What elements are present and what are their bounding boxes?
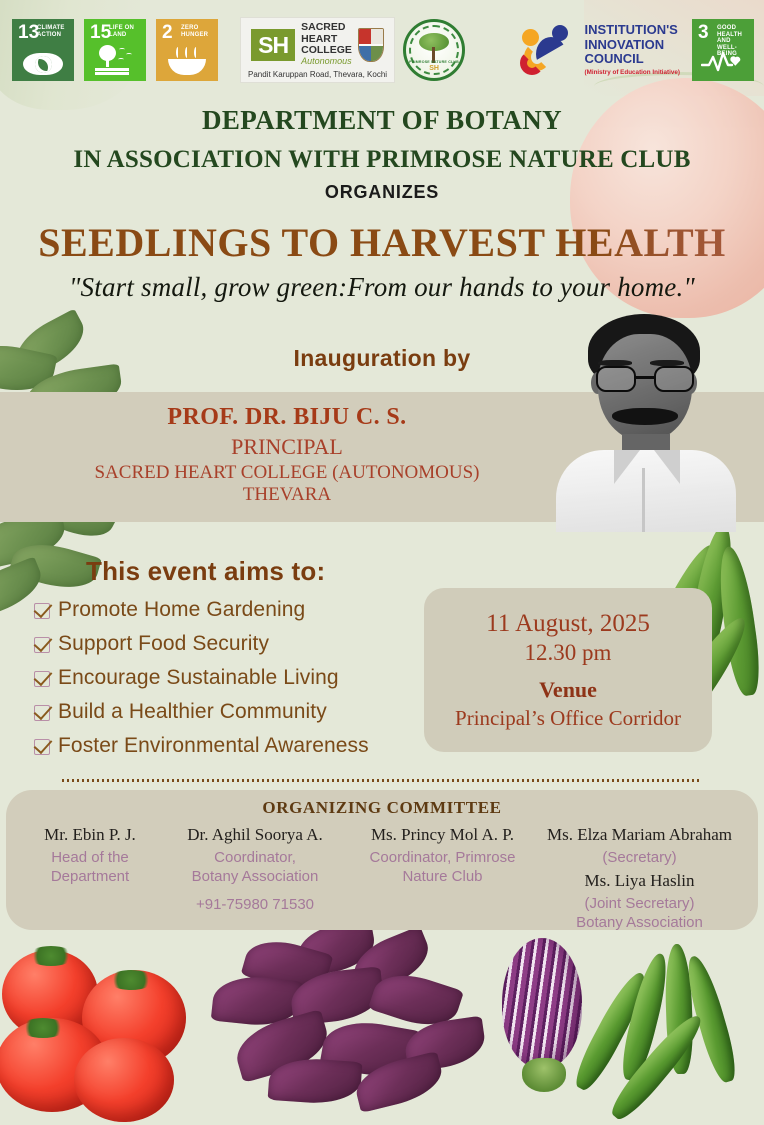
venue-value: Principal’s Office Corridor	[455, 706, 681, 731]
aim-item: Build a Healthier Community	[34, 700, 369, 724]
sdg-2-label: ZERO HUNGER	[181, 25, 215, 38]
member-phone: +91-75980 71530	[160, 895, 350, 914]
member-role: Coordinator, Primrose Nature Club	[350, 848, 535, 886]
member-role: Coordinator, Botany Association	[160, 848, 350, 886]
sdg-goal-3-logo: 3 GOOD HEALTH AND WELL-BEING	[692, 19, 754, 81]
speaker-role: PRINCIPAL	[0, 434, 574, 460]
primrose-nature-club-logo: PRIMROSE NATURE CLUB SH	[403, 19, 465, 81]
aims-list: Promote Home Gardening Support Food Secu…	[34, 598, 369, 768]
shc-monogram: SH	[251, 29, 295, 61]
speaker-college: SACRED HEART COLLEGE (AUTONOMOUS)	[0, 462, 574, 484]
tree-birds-icon	[84, 45, 146, 75]
aims-heading: This event aims to:	[86, 556, 325, 587]
aim-label: Build a Healthier Community	[58, 700, 327, 724]
logo-bar: 13 CLIMATE ACTION 15 LIFE ON LAND 2 ZE	[0, 10, 764, 90]
iic-line-3: COUNCIL	[584, 52, 680, 67]
event-poster: 13 CLIMATE ACTION 15 LIFE ON LAND 2 ZE	[0, 0, 764, 1080]
sdg-13-label: CLIMATE ACTION	[37, 25, 71, 38]
iic-people-mark-icon	[520, 23, 578, 77]
aim-item: Promote Home Gardening	[34, 598, 369, 622]
college-crest-icon	[358, 28, 384, 62]
checkbox-checked-icon	[34, 603, 50, 619]
department-title: DEPARTMENT OF BOTANY	[0, 100, 764, 140]
tomatoes-image	[0, 926, 206, 1096]
sdg-goal-2-logo: 2 ZERO HUNGER	[156, 19, 218, 81]
member-role: Head of the Department	[20, 848, 160, 886]
pnc-band-text: PRIMROSE NATURE CLUB	[406, 60, 462, 64]
sdg-15-label: LIFE ON LAND	[109, 25, 143, 38]
aim-label: Support Food Security	[58, 632, 269, 656]
event-details-card: 11 August, 2025 12.30 pm Venue Principal…	[424, 588, 712, 752]
speaker-details: PROF. DR. BIJU C. S. PRINCIPAL SACRED HE…	[0, 404, 574, 506]
institutions-innovation-council-logo: INSTITUTION'S INNOVATION COUNCIL (Minist…	[520, 23, 680, 77]
poster-header: DEPARTMENT OF BOTANY IN ASSOCIATION WITH…	[0, 100, 764, 303]
aim-item: Support Food Security	[34, 632, 369, 656]
inauguration-heading: Inauguration by	[0, 345, 764, 372]
shc-autonomous: Autonomous	[301, 56, 352, 67]
pnc-monogram: SH	[406, 65, 462, 72]
member-name: Ms. Princy Mol A. P.	[350, 824, 535, 846]
committee-title: ORGANIZING COMMITTEE	[6, 798, 758, 818]
heartbeat-icon	[692, 49, 754, 75]
association-title: IN ASSOCIATION WITH PRIMROSE NATURE CLUB	[0, 140, 764, 180]
event-title: SEEDLINGS TO HARVEST HEALTH	[0, 219, 764, 266]
member-role: (Secretary)	[535, 848, 744, 867]
sdg-goal-15-logo: 15 LIFE ON LAND	[84, 19, 146, 81]
event-date: 11 August, 2025	[486, 610, 650, 638]
committee-member: Ms. Princy Mol A. P. Coordinator, Primro…	[350, 824, 535, 886]
speaker-portrait	[550, 308, 740, 530]
member-role: (Joint Secretary) Botany Association	[535, 894, 744, 932]
checkbox-checked-icon	[34, 637, 50, 653]
shc-address: Pandit Karuppan Road, Thevara, Kochi	[248, 70, 387, 79]
checkbox-checked-icon	[34, 705, 50, 721]
sdg-goal-13-logo: 13 CLIMATE ACTION	[12, 19, 74, 81]
organizes-label: ORGANIZES	[0, 182, 764, 203]
aim-label: Promote Home Gardening	[58, 598, 305, 622]
aim-label: Foster Environmental Awareness	[58, 734, 369, 758]
aim-item: Foster Environmental Awareness	[34, 734, 369, 758]
globe-eye-icon	[12, 53, 74, 75]
sacred-heart-college-logo: SH SACRED HEART COLLEGE Autonomous Pandi…	[240, 17, 395, 83]
committee-member: Dr. Aghil Soorya A. Coordinator, Botany …	[160, 824, 350, 914]
aim-label: Encourage Sustainable Living	[58, 666, 339, 690]
aim-item: Encourage Sustainable Living	[34, 666, 369, 690]
shc-line-3: COLLEGE	[301, 45, 352, 56]
committee-member: Mr. Ebin P. J. Head of the Department	[20, 824, 160, 886]
striped-eggplant-image	[488, 924, 596, 1094]
event-tagline: "Start small, grow green:From our hands …	[0, 272, 764, 303]
iic-line-1: INSTITUTION'S	[584, 23, 680, 38]
shc-line-1: SACRED	[301, 22, 352, 33]
member-name: Ms. Liya Haslin	[535, 870, 744, 892]
dotted-divider	[62, 779, 702, 782]
okra-bundle-image	[580, 932, 764, 1092]
red-amaranth-image	[205, 925, 495, 1100]
member-name: Ms. Elza Mariam Abraham	[535, 824, 744, 846]
event-time: 12.30 pm	[525, 640, 612, 666]
member-name: Dr. Aghil Soorya A.	[160, 824, 350, 846]
checkbox-checked-icon	[34, 671, 50, 687]
venue-label: Venue	[539, 677, 597, 703]
organizing-committee-panel: ORGANIZING COMMITTEE Mr. Ebin P. J. Head…	[6, 790, 758, 930]
member-name: Mr. Ebin P. J.	[20, 824, 160, 846]
steaming-bowl-icon	[156, 47, 218, 75]
checkbox-checked-icon	[34, 739, 50, 755]
iic-ministry-note: (Ministry of Education Initiative)	[584, 69, 680, 77]
speaker-name: PROF. DR. BIJU C. S.	[0, 404, 574, 431]
iic-line-2: INNOVATION	[584, 38, 680, 53]
speaker-place: THEVARA	[0, 484, 574, 506]
committee-member: Ms. Elza Mariam Abraham (Secretary) Ms. …	[535, 824, 744, 932]
bottom-produce-strip	[0, 920, 764, 1080]
